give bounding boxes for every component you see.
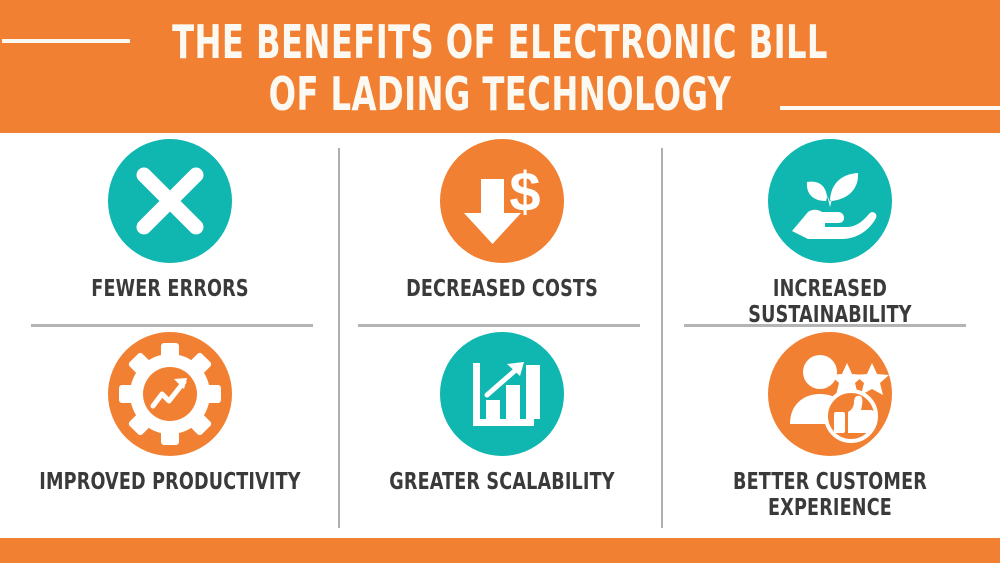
page-title-line-1: THE BENEFITS OF ELECTRONIC BILL — [110, 16, 890, 68]
benefit-item-greater-scalability: GREATER SCALABILITY — [336, 332, 668, 495]
row-divider-column-2 — [358, 324, 640, 327]
benefit-item-improved-productivity: IMPROVED PRODUCTIVITY — [4, 332, 336, 495]
customer-thumbs-up-stars-icon — [768, 332, 892, 456]
benefit-item-decreased-costs: $ DECREASED COSTS — [336, 139, 668, 302]
benefit-item-increased-sustainability: INCREASED SUSTAINABILITY — [664, 139, 996, 328]
hand-holding-plant-icon — [768, 139, 892, 263]
column-divider-1 — [338, 148, 340, 528]
gear-growth-arrow-icon — [108, 332, 232, 456]
benefit-label: DECREASED COSTS — [361, 276, 643, 302]
header-band: THE BENEFITS OF ELECTRONIC BILL OF LADIN… — [0, 0, 1000, 133]
benefit-item-fewer-errors: FEWER ERRORS — [4, 139, 336, 302]
row-divider-column-1 — [31, 324, 313, 327]
benefit-item-better-customer-experience: BETTER CUSTOMER EXPERIENCE — [664, 332, 996, 521]
column-divider-2 — [661, 148, 663, 528]
benefits-grid: FEWER ERRORS $ DECREASED COSTS — [0, 133, 1000, 538]
benefit-label: GREATER SCALABILITY — [361, 469, 643, 495]
benefit-label: IMPROVED PRODUCTIVITY — [29, 469, 311, 495]
down-arrow-dollar-icon: $ — [440, 139, 564, 263]
infographic-canvas: THE BENEFITS OF ELECTRONIC BILL OF LADIN… — [0, 0, 1000, 563]
footer-band — [0, 538, 1000, 563]
x-cross-icon — [108, 139, 232, 263]
page-title-line-2: OF LADING TECHNOLOGY — [110, 68, 890, 120]
svg-text:$: $ — [509, 160, 540, 223]
bar-chart-arrow-icon — [440, 332, 564, 456]
row-divider-column-3 — [684, 324, 966, 327]
benefit-label: FEWER ERRORS — [29, 276, 311, 302]
benefit-label: INCREASED SUSTAINABILITY — [689, 276, 971, 328]
benefit-label: BETTER CUSTOMER EXPERIENCE — [689, 469, 971, 521]
page-title: THE BENEFITS OF ELECTRONIC BILL OF LADIN… — [0, 0, 1000, 133]
